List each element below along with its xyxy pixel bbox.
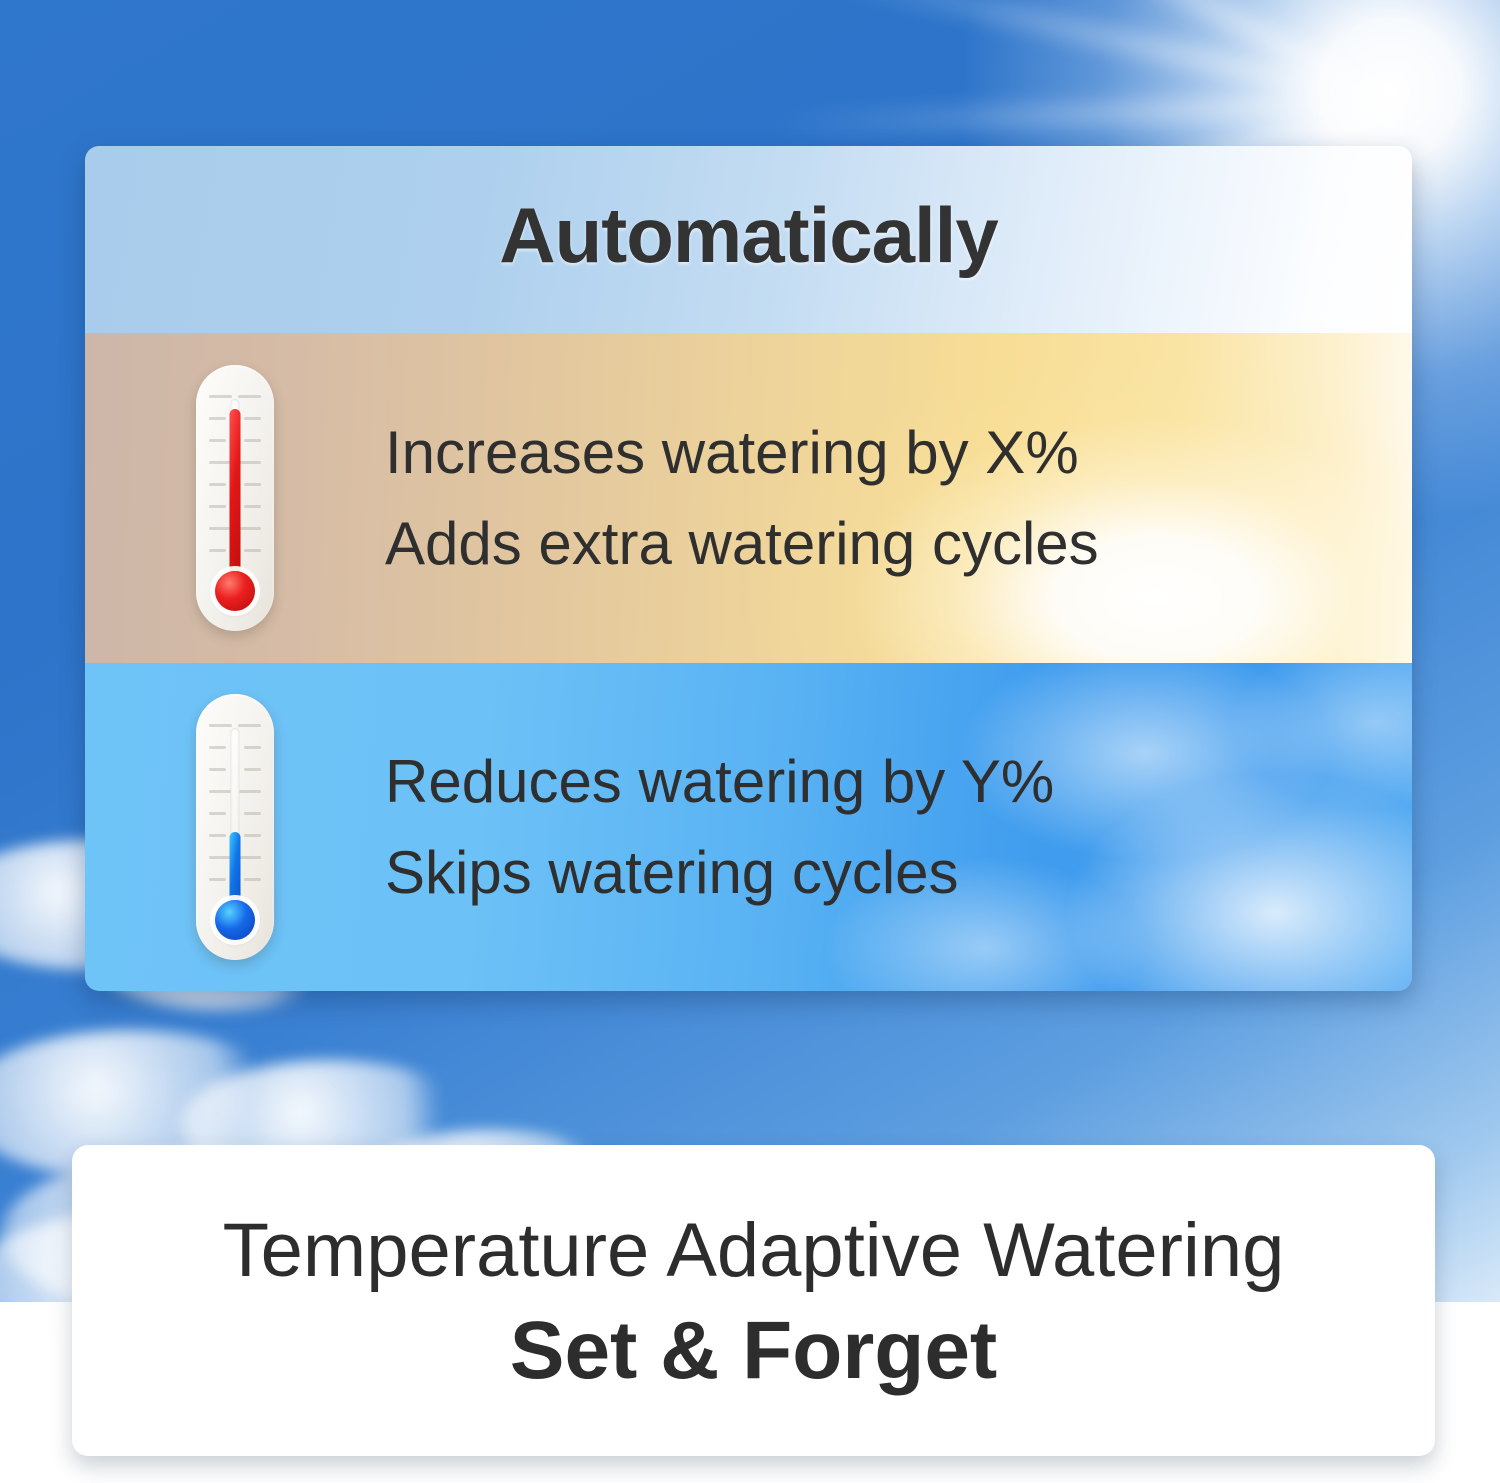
poster-stage: Automatically <box>0 0 1500 1483</box>
hot-line-2: Adds extra watering cycles <box>385 498 1372 589</box>
thermometer-cold-icon <box>196 694 274 960</box>
hot-text-block: Increases watering by X% Adds extra wate… <box>385 407 1412 589</box>
caption-tagline: Set & Forget <box>510 1303 997 1400</box>
page-title: Automatically <box>499 190 997 281</box>
thermometer-hot-icon <box>196 365 274 631</box>
thermometer-bulb-cold <box>215 900 255 940</box>
card-header: Automatically <box>85 146 1412 333</box>
cold-line-2: Skips watering cycles <box>385 827 1372 918</box>
caption-headline: Temperature Adaptive Watering <box>223 1208 1285 1293</box>
cold-icon-slot <box>85 694 385 960</box>
thermometer-mercury-hot <box>230 409 241 581</box>
hot-line-1: Increases watering by X% <box>385 407 1372 498</box>
thermometer-mercury-cold <box>230 832 241 910</box>
caption-card: Temperature Adaptive Watering Set & Forg… <box>72 1145 1435 1456</box>
cold-weather-row: Reduces watering by Y% Skips watering cy… <box>85 663 1412 991</box>
hot-weather-row: Increases watering by X% Adds extra wate… <box>85 333 1412 663</box>
cold-text-block: Reduces watering by Y% Skips watering cy… <box>385 736 1412 918</box>
feature-card: Automatically <box>85 146 1412 991</box>
hot-icon-slot <box>85 365 385 631</box>
thermometer-bulb-hot <box>215 571 255 611</box>
cold-line-1: Reduces watering by Y% <box>385 736 1372 827</box>
